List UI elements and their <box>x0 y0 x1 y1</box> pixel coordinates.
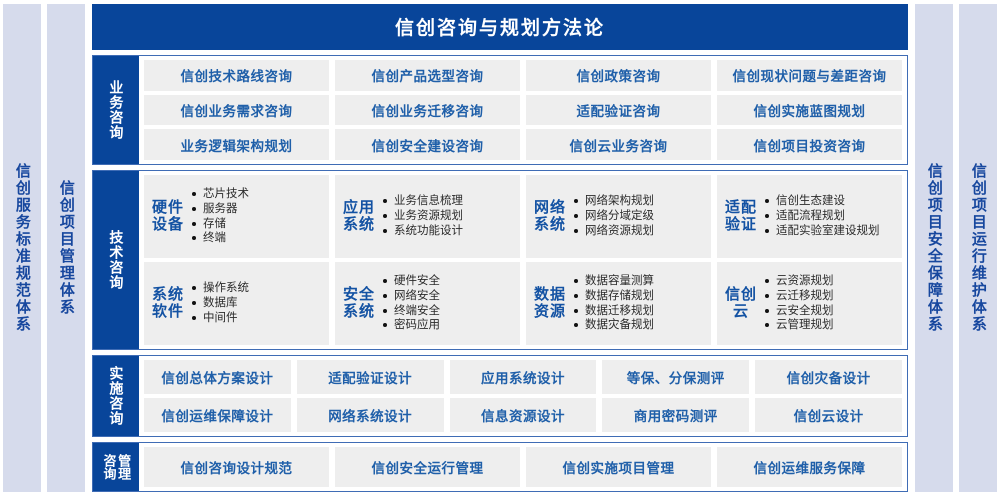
tech-card-item: 云资源规划 <box>765 274 896 289</box>
pillar-project-security-label: 信创项目安全保障体系 <box>926 163 942 333</box>
management-row-1: 信创咨询设计规范 信创安全运行管理 信创实施项目管理 信创运维服务保障 <box>144 447 902 487</box>
business-cell[interactable]: 信创政策咨询 <box>526 60 711 91</box>
management-cell[interactable]: 信创实施项目管理 <box>526 447 711 487</box>
tech-card-cloud[interactable]: 信创云 云资源规划 云迁移规划 云安全规划 云管理规划 <box>717 262 902 345</box>
band-label-management: 管理 咨询 <box>93 443 139 491</box>
band-label-implementation-text: 实施咨询 <box>109 366 124 426</box>
tech-card-item: 网络安全 <box>383 289 514 304</box>
tech-card-system-software[interactable]: 系统软件 操作系统 数据库 中间件 <box>144 262 329 345</box>
tech-card-item: 终端 <box>192 231 323 246</box>
page-title: 信创咨询与规划方法论 <box>92 4 908 50</box>
implementation-cell[interactable]: 信息资源设计 <box>450 398 597 432</box>
business-row-2: 信创业务需求咨询 信创业务迁移咨询 适配验证咨询 信创实施蓝图规划 <box>144 95 902 126</box>
band-body-technical: 硬件设备 芯片技术 服务器 存储 终端 应用系统 业务信息梳理 业务资源规划 <box>139 171 907 349</box>
tech-card-item: 数据灾备规划 <box>574 318 705 333</box>
band-label-technical-text: 技术咨询 <box>109 230 124 290</box>
business-row-3: 业务逻辑架构规划 信创安全建设咨询 信创云业务咨询 信创项目投资咨询 <box>144 129 902 160</box>
band-label-management-text-right: 管理 <box>117 454 131 480</box>
business-cell[interactable]: 信创业务需求咨询 <box>144 95 329 126</box>
implementation-row-1: 信创总体方案设计 适配验证设计 应用系统设计 等保、分保测评 信创灾备设计 <box>144 360 902 394</box>
band-label-business-text: 业务咨询 <box>109 80 124 140</box>
pillar-project-management: 信创项目管理体系 <box>47 4 85 492</box>
business-cell[interactable]: 信创安全建设咨询 <box>335 129 520 160</box>
tech-card-adaptation[interactable]: 适配验证 信创生态建设 适配流程规划 适配实验室建设规划 <box>717 175 902 258</box>
pillar-project-security: 信创项目安全保障体系 <box>915 4 953 492</box>
implementation-cell[interactable]: 适配验证设计 <box>297 360 444 394</box>
tech-card-list: 硬件安全 网络安全 终端安全 密码应用 <box>383 274 514 333</box>
tech-card-item: 服务器 <box>192 202 323 217</box>
tech-card-item: 业务信息梳理 <box>383 194 514 209</box>
implementation-cell[interactable]: 信创云设计 <box>755 398 902 432</box>
business-cell[interactable]: 信创业务迁移咨询 <box>335 95 520 126</box>
tech-card-item: 云安全规划 <box>765 304 896 319</box>
pillar-project-operations-label: 信创项目运行维护体系 <box>970 163 986 333</box>
tech-card-item: 数据库 <box>192 296 323 311</box>
tech-card-item: 存储 <box>192 217 323 232</box>
tech-card-title: 硬件设备 <box>150 200 186 234</box>
tech-card-item: 密码应用 <box>383 318 514 333</box>
tech-card-item: 数据存储规划 <box>574 289 705 304</box>
tech-card-item: 网络资源规划 <box>574 224 705 239</box>
technical-row-1: 硬件设备 芯片技术 服务器 存储 终端 应用系统 业务信息梳理 业务资源规划 <box>144 175 902 258</box>
tech-card-item: 信创生态建设 <box>765 194 896 209</box>
band-label-management-wrap: 管理 咨询 <box>102 454 130 480</box>
implementation-cell[interactable]: 网络系统设计 <box>297 398 444 432</box>
center-column: 信创咨询与规划方法论 业务咨询 信创技术路线咨询 信创产品选型咨询 信创政策咨询… <box>88 0 912 496</box>
tech-card-list: 数据容量测算 数据存储规划 数据迁移规划 数据灾备规划 <box>574 274 705 333</box>
tech-card-list: 网络架构规划 网络分域定级 网络资源规划 <box>574 194 705 238</box>
band-technical-consulting: 技术咨询 硬件设备 芯片技术 服务器 存储 终端 应用系统 <box>92 170 908 350</box>
band-label-technical: 技术咨询 <box>93 171 139 349</box>
business-cell[interactable]: 信创技术路线咨询 <box>144 60 329 91</box>
business-cell[interactable]: 信创项目投资咨询 <box>717 129 902 160</box>
tech-card-item: 网络分域定级 <box>574 209 705 224</box>
pillar-project-management-label: 信创项目管理体系 <box>58 180 74 316</box>
implementation-cell[interactable]: 信创灾备设计 <box>755 360 902 394</box>
band-implementation-consulting: 实施咨询 信创总体方案设计 适配验证设计 应用系统设计 等保、分保测评 信创灾备… <box>92 355 908 437</box>
tech-card-item: 中间件 <box>192 311 323 326</box>
tech-card-title: 安全系统 <box>341 287 377 321</box>
pillar-service-standard: 信创服务标准规范体系 <box>3 4 41 492</box>
tech-card-data-resource[interactable]: 数据资源 数据容量测算 数据存储规划 数据迁移规划 数据灾备规划 <box>526 262 711 345</box>
tech-card-list: 操作系统 数据库 中间件 <box>192 281 323 325</box>
tech-card-title: 数据资源 <box>532 287 568 321</box>
pillar-service-standard-label: 信创服务标准规范体系 <box>14 163 30 333</box>
band-label-management-text-left: 咨询 <box>102 454 116 480</box>
business-cell[interactable]: 信创产品选型咨询 <box>335 60 520 91</box>
tech-card-item: 数据容量测算 <box>574 274 705 289</box>
tech-card-title: 适配验证 <box>723 200 759 234</box>
pillar-project-operations: 信创项目运行维护体系 <box>959 4 997 492</box>
tech-card-item: 业务资源规划 <box>383 209 514 224</box>
implementation-cell[interactable]: 等保、分保测评 <box>602 360 749 394</box>
tech-card-item: 终端安全 <box>383 304 514 319</box>
tech-card-network[interactable]: 网络系统 网络架构规划 网络分域定级 网络资源规划 <box>526 175 711 258</box>
band-body-management: 信创咨询设计规范 信创安全运行管理 信创实施项目管理 信创运维服务保障 <box>139 443 907 491</box>
tech-card-list: 云资源规划 云迁移规划 云安全规划 云管理规划 <box>765 274 896 333</box>
tech-card-item: 云迁移规划 <box>765 289 896 304</box>
business-cell[interactable]: 信创实施蓝图规划 <box>717 95 902 126</box>
tech-card-item: 适配流程规划 <box>765 209 896 224</box>
technical-row-2: 系统软件 操作系统 数据库 中间件 安全系统 硬件安全 网络安全 终端安全 <box>144 262 902 345</box>
implementation-row-2: 信创运维保障设计 网络系统设计 信息资源设计 商用密码测评 信创云设计 <box>144 398 902 432</box>
tech-card-item: 系统功能设计 <box>383 224 514 239</box>
band-label-implementation: 实施咨询 <box>93 356 139 436</box>
tech-card-list: 业务信息梳理 业务资源规划 系统功能设计 <box>383 194 514 238</box>
tech-card-title: 网络系统 <box>532 200 568 234</box>
implementation-cell[interactable]: 商用密码测评 <box>602 398 749 432</box>
tech-card-title: 应用系统 <box>341 200 377 234</box>
band-management-consulting: 管理 咨询 信创咨询设计规范 信创安全运行管理 信创实施项目管理 信创运维服务保… <box>92 442 908 492</box>
band-body-business: 信创技术路线咨询 信创产品选型咨询 信创政策咨询 信创现状问题与差距咨询 信创业… <box>139 56 907 164</box>
management-cell[interactable]: 信创运维服务保障 <box>717 447 902 487</box>
tech-card-application[interactable]: 应用系统 业务信息梳理 业务资源规划 系统功能设计 <box>335 175 520 258</box>
band-business-consulting: 业务咨询 信创技术路线咨询 信创产品选型咨询 信创政策咨询 信创现状问题与差距咨… <box>92 55 908 165</box>
management-cell[interactable]: 信创咨询设计规范 <box>144 447 329 487</box>
tech-card-item: 硬件安全 <box>383 274 514 289</box>
business-cell[interactable]: 业务逻辑架构规划 <box>144 129 329 160</box>
tech-card-item: 网络架构规划 <box>574 194 705 209</box>
band-label-business: 业务咨询 <box>93 56 139 164</box>
tech-card-hardware[interactable]: 硬件设备 芯片技术 服务器 存储 终端 <box>144 175 329 258</box>
tech-card-list: 芯片技术 服务器 存储 终端 <box>192 187 323 246</box>
implementation-cell[interactable]: 信创运维保障设计 <box>144 398 291 432</box>
methodology-diagram: 信创服务标准规范体系 信创项目管理体系 信创咨询与规划方法论 业务咨询 信创技术… <box>0 0 1000 496</box>
tech-card-title: 信创云 <box>723 287 759 321</box>
tech-card-list: 信创生态建设 适配流程规划 适配实验室建设规划 <box>765 194 896 238</box>
business-cell[interactable]: 信创云业务咨询 <box>526 129 711 160</box>
tech-card-security[interactable]: 安全系统 硬件安全 网络安全 终端安全 密码应用 <box>335 262 520 345</box>
business-cell[interactable]: 适配验证咨询 <box>526 95 711 126</box>
band-body-implementation: 信创总体方案设计 适配验证设计 应用系统设计 等保、分保测评 信创灾备设计 信创… <box>139 356 907 436</box>
business-row-1: 信创技术路线咨询 信创产品选型咨询 信创政策咨询 信创现状问题与差距咨询 <box>144 60 902 91</box>
business-cell[interactable]: 信创现状问题与差距咨询 <box>717 60 902 91</box>
tech-card-item: 数据迁移规划 <box>574 304 705 319</box>
tech-card-title: 系统软件 <box>150 287 186 321</box>
implementation-cell[interactable]: 信创总体方案设计 <box>144 360 291 394</box>
management-cell[interactable]: 信创安全运行管理 <box>335 447 520 487</box>
tech-card-item: 适配实验室建设规划 <box>765 224 896 239</box>
tech-card-item: 操作系统 <box>192 281 323 296</box>
tech-card-item: 云管理规划 <box>765 318 896 333</box>
implementation-cell[interactable]: 应用系统设计 <box>450 360 597 394</box>
tech-card-item: 芯片技术 <box>192 187 323 202</box>
